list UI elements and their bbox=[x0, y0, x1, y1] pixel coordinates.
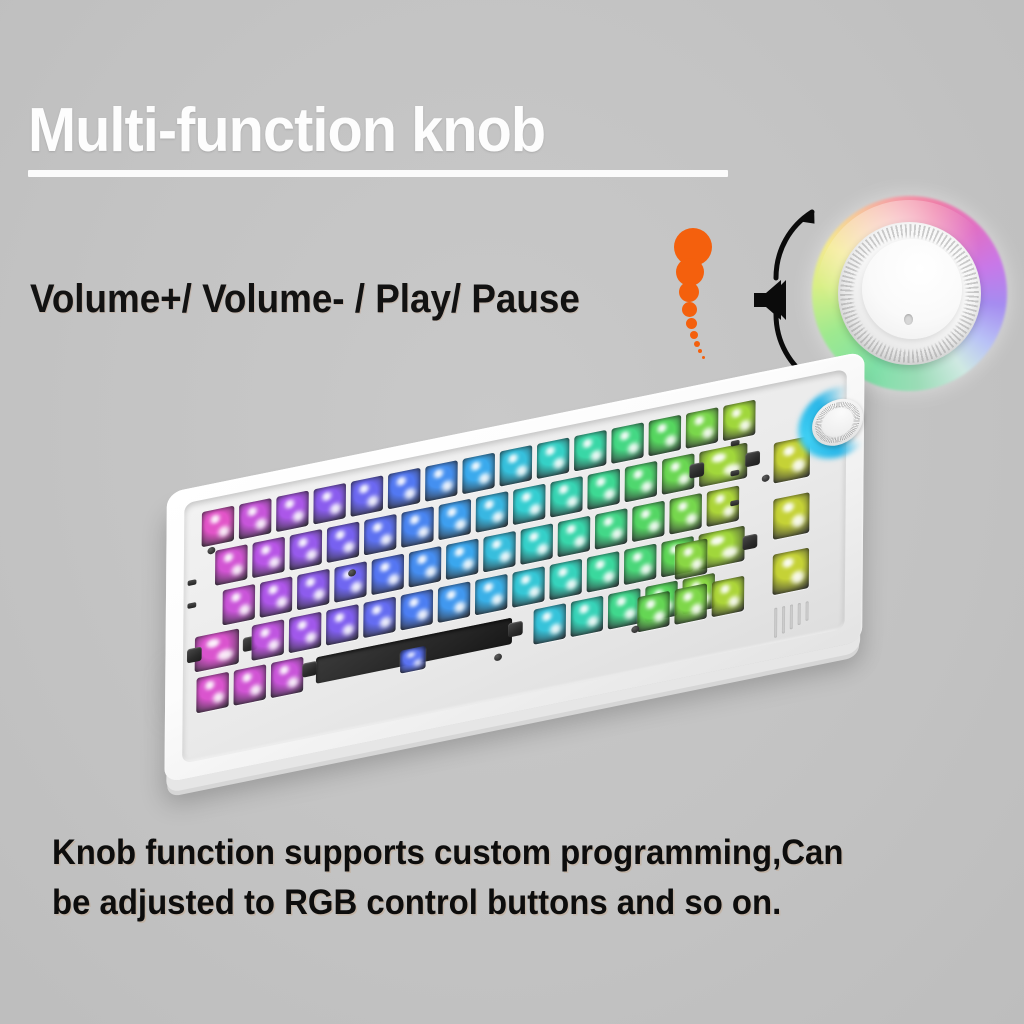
dot-4 bbox=[682, 302, 697, 317]
caption-line-1: Knob function supports custom programmin… bbox=[52, 828, 917, 878]
barebones-mechanical-keyboard bbox=[134, 324, 921, 853]
key-switch-socket bbox=[595, 508, 628, 550]
key-switch-socket bbox=[234, 664, 267, 706]
key-switch-socket bbox=[625, 461, 658, 503]
vent-line bbox=[790, 604, 793, 629]
key-switch-socket bbox=[289, 612, 322, 654]
product-banner: Multi-function knob Volume+/ Volume- / P… bbox=[0, 0, 1024, 1024]
key-switch-socket bbox=[533, 603, 566, 645]
key-switch-socket bbox=[276, 490, 309, 532]
key-switch-socket bbox=[500, 445, 533, 487]
key-switch-socket bbox=[297, 569, 330, 611]
stabilizer bbox=[743, 533, 758, 550]
case-screw bbox=[207, 546, 215, 555]
key-switch-socket bbox=[260, 576, 293, 618]
key-switch-socket bbox=[669, 493, 702, 535]
key-switch-socket bbox=[549, 559, 582, 601]
vent-line bbox=[782, 606, 785, 634]
key-switch-socket bbox=[574, 430, 607, 472]
key-switch-socket bbox=[513, 484, 546, 526]
key-switch-socket bbox=[409, 546, 442, 588]
dot-9 bbox=[702, 356, 705, 359]
key-switch-socket bbox=[371, 554, 404, 596]
stabilizer bbox=[302, 661, 317, 678]
case-screw bbox=[631, 625, 639, 634]
key-switch-socket bbox=[686, 407, 719, 449]
arrow-key-right bbox=[712, 576, 745, 618]
side-port bbox=[187, 602, 196, 609]
key-switch-socket bbox=[550, 476, 583, 518]
key-switch-socket bbox=[446, 538, 479, 580]
feature-subtitle: Volume+/ Volume- / Play/ Pause bbox=[30, 277, 580, 321]
key-switch-socket bbox=[326, 604, 359, 646]
key-switch-socket bbox=[252, 537, 285, 579]
key-switch-socket bbox=[425, 460, 458, 502]
key-switch-socket bbox=[215, 544, 248, 586]
switch-plate bbox=[192, 377, 839, 754]
case-screw bbox=[762, 474, 770, 483]
vent-line bbox=[774, 607, 777, 637]
key-switch-socket bbox=[483, 531, 516, 573]
key-switch-socket bbox=[608, 588, 641, 630]
arrow-key-left bbox=[637, 591, 670, 633]
key-switch-socket bbox=[587, 468, 620, 510]
key-switch-socket bbox=[364, 514, 397, 556]
side-column-switch bbox=[773, 492, 810, 540]
key-switch-socket bbox=[512, 566, 545, 608]
key-switch-socket bbox=[587, 551, 620, 593]
key-switch-socket bbox=[252, 619, 285, 661]
dot-5 bbox=[686, 318, 697, 329]
key-switch-socket bbox=[363, 596, 396, 638]
shrinking-dot-trail-icon bbox=[672, 228, 752, 378]
key-switch-socket bbox=[202, 506, 235, 548]
key-switch-socket bbox=[401, 506, 434, 548]
side-port bbox=[188, 579, 197, 586]
dot-3 bbox=[679, 282, 699, 302]
knob-indicator-dot bbox=[904, 314, 913, 325]
key-switch-socket bbox=[313, 483, 346, 525]
key-switch-socket bbox=[723, 400, 756, 442]
key-switch-socket bbox=[571, 596, 604, 638]
key-switch-socket bbox=[271, 657, 304, 699]
stabilizer bbox=[745, 450, 760, 467]
key-switch-socket bbox=[438, 581, 471, 623]
key-switch-socket-wide bbox=[699, 442, 747, 487]
key-switch-socket bbox=[438, 499, 471, 541]
key-switch-socket bbox=[334, 561, 367, 603]
keyboard-volume-knob-icon bbox=[807, 389, 868, 456]
key-switch-socket bbox=[611, 422, 644, 464]
key-switch-socket bbox=[558, 516, 591, 558]
page-title: Multi-function knob bbox=[28, 98, 545, 164]
key-switch-socket bbox=[239, 498, 272, 540]
key-switch-socket bbox=[475, 574, 508, 616]
side-column-switch bbox=[772, 547, 809, 595]
arrow-key-up bbox=[675, 538, 708, 580]
dot-8 bbox=[698, 349, 702, 353]
keyboard-case bbox=[164, 351, 864, 783]
key-switch-socket bbox=[476, 491, 509, 533]
key-switch-socket bbox=[388, 468, 421, 510]
knob-cap bbox=[862, 239, 962, 339]
keyboard-plate-well bbox=[182, 369, 847, 764]
key-switch-socket bbox=[289, 529, 322, 571]
key-switch-socket bbox=[462, 453, 495, 495]
key-switch-socket bbox=[520, 523, 553, 565]
caption-line-2: be adjusted to RGB control buttons and s… bbox=[52, 878, 917, 928]
spacebar-center-switch bbox=[400, 646, 426, 674]
key-switch-socket bbox=[222, 584, 255, 626]
key-switch-socket bbox=[537, 437, 570, 479]
stabilizer bbox=[508, 621, 523, 638]
vent-line bbox=[806, 601, 809, 621]
key-switch-socket bbox=[624, 543, 657, 585]
dot-6 bbox=[690, 331, 698, 339]
key-switch-socket bbox=[196, 672, 229, 714]
key-switch-socket bbox=[632, 501, 665, 543]
dot-7 bbox=[694, 341, 700, 347]
title-underline bbox=[28, 170, 728, 177]
key-switch-socket bbox=[707, 485, 740, 527]
key-switch-socket bbox=[327, 521, 360, 563]
key-switch-socket bbox=[400, 589, 433, 631]
arrow-key-down bbox=[674, 583, 707, 625]
vent-line bbox=[798, 603, 801, 626]
keyboard-photo bbox=[128, 378, 928, 808]
key-switch-socket bbox=[351, 475, 384, 517]
feature-caption: Knob function supports custom programmin… bbox=[52, 828, 917, 928]
key-switch-socket bbox=[648, 415, 681, 457]
case-screw bbox=[494, 653, 502, 662]
